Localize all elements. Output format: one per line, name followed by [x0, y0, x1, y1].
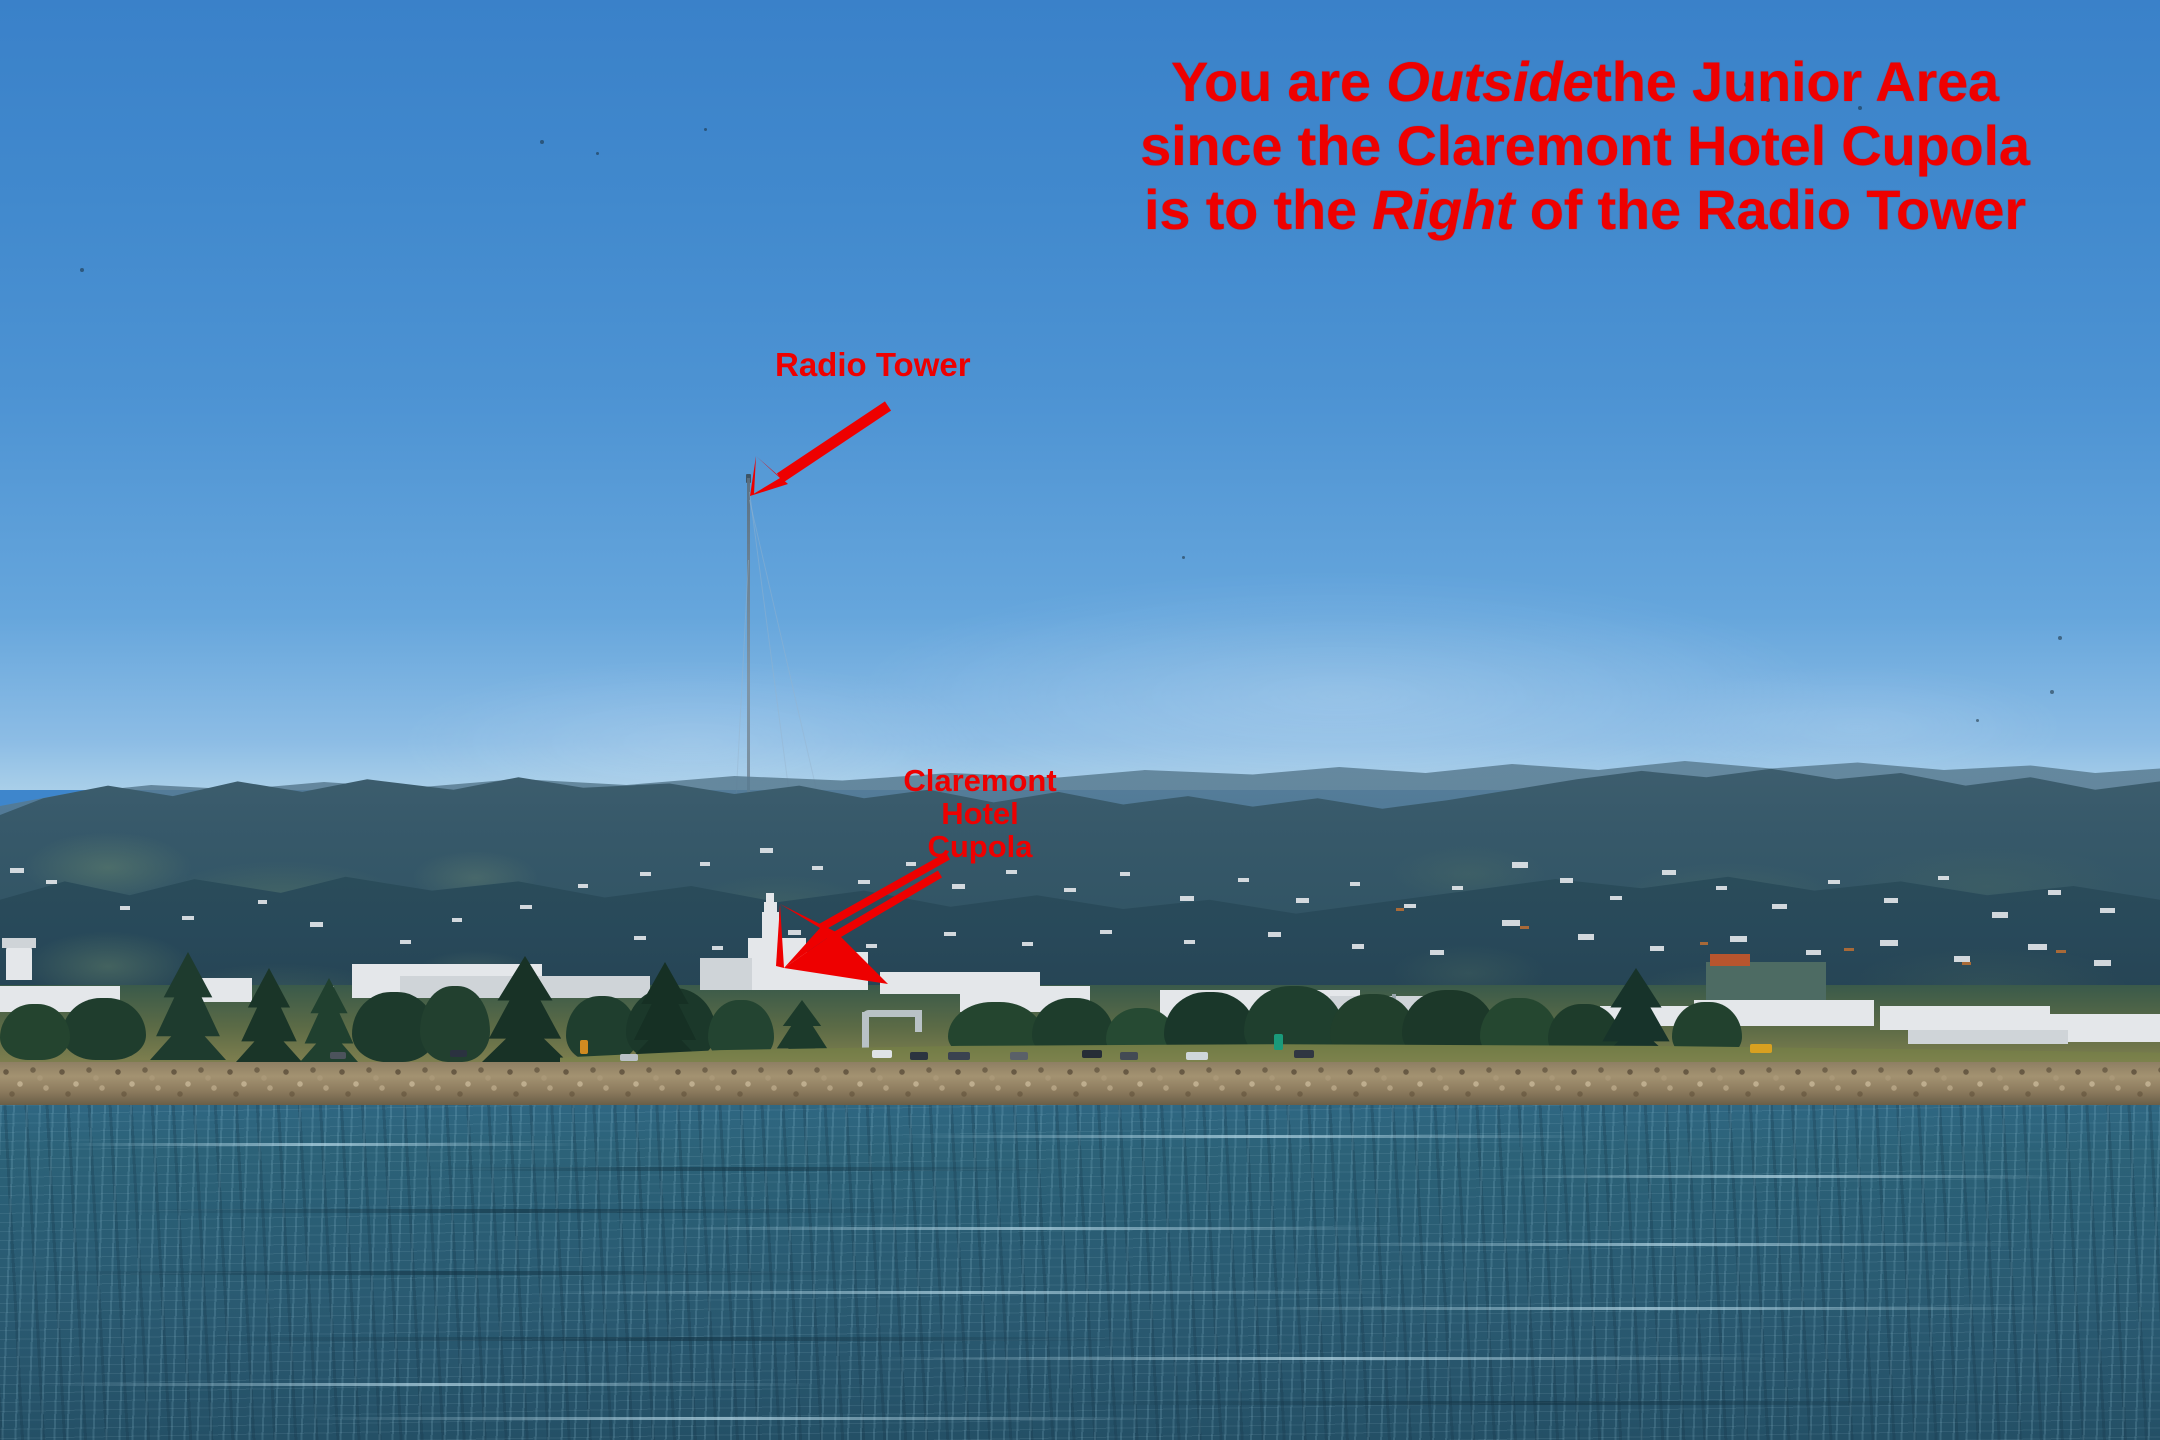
- page-title: You are Outsidethe Junior Area since the…: [1030, 50, 2140, 241]
- title-line-2: since the Claremont Hotel Cupola: [1030, 114, 2140, 178]
- claremont-hotel-cupola-label: Claremont Hotel Cupola: [880, 765, 1080, 864]
- title-line-3: is to the Right of the Radio Tower: [1030, 178, 2140, 242]
- title-line1-emphasis: Outside: [1386, 50, 1593, 113]
- title-line1-suffix: the Junior Area: [1593, 50, 1999, 113]
- title-line1-prefix: You are: [1171, 50, 1386, 113]
- photo-canvas: You are Outsidethe Junior Area since the…: [0, 0, 2160, 1440]
- title-line-1: You are Outsidethe Junior Area: [1030, 50, 2140, 114]
- radio-tower-label: Radio Tower: [775, 348, 971, 383]
- title-line3-emphasis: Right: [1372, 178, 1514, 241]
- title-line3-prefix: is to the: [1144, 178, 1372, 241]
- riprap-rock-texture: [0, 1062, 2160, 1110]
- riprap-shoreline: [0, 1062, 2160, 1110]
- bay-water: [0, 1105, 2160, 1440]
- title-line3-suffix: of the Radio Tower: [1514, 178, 2026, 241]
